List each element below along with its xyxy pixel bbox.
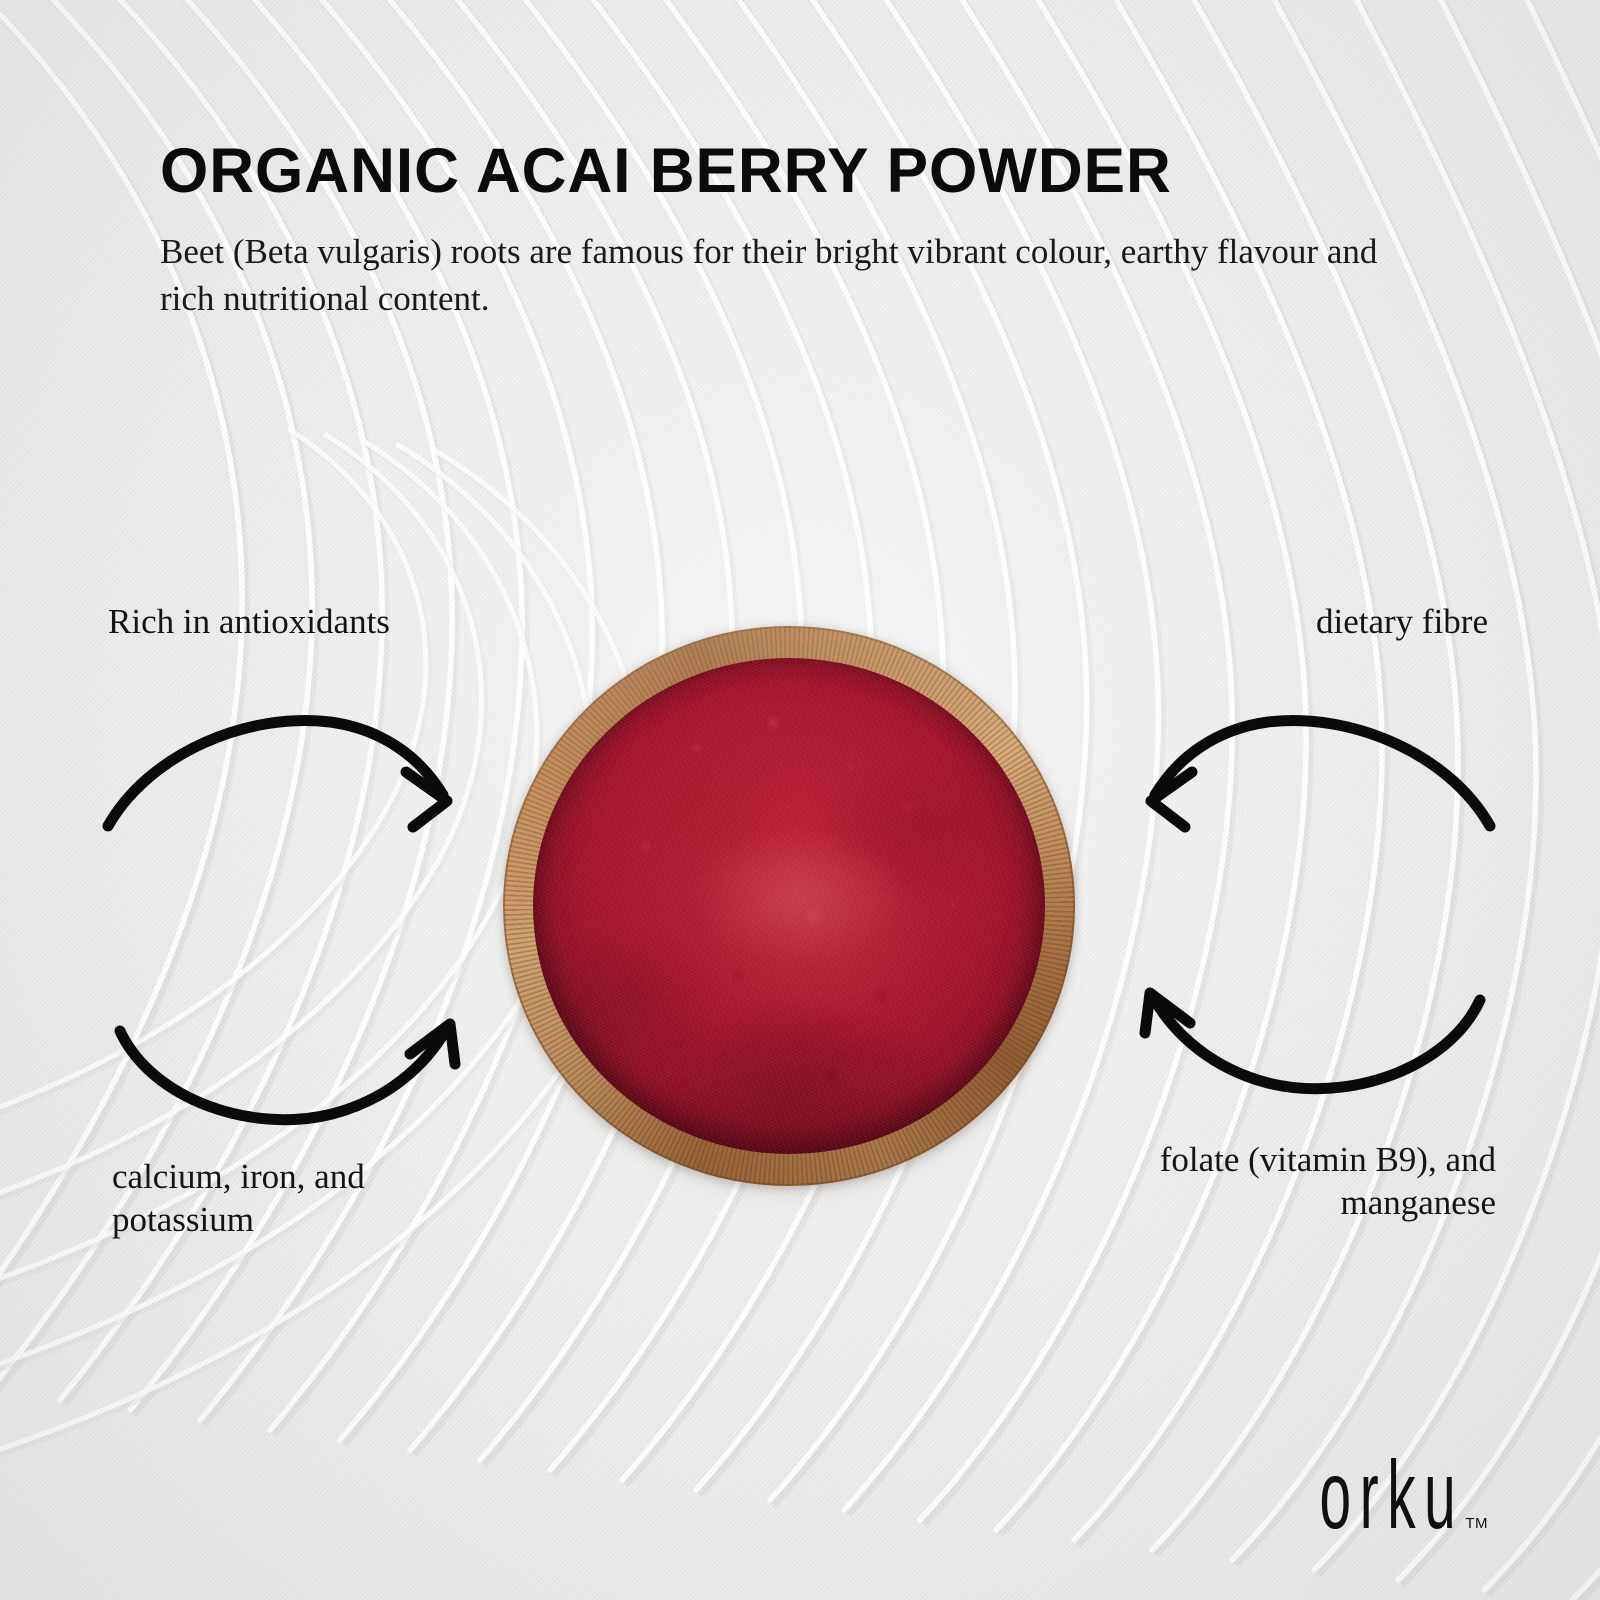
brand-name: orku <box>1320 1455 1465 1538</box>
callout-label-bottom-right: folate (vitamin B9), and manganese <box>1160 1138 1496 1225</box>
product-bowl-image <box>500 618 1080 1198</box>
callout-label-bottom-left: calcium, iron, and potassium <box>112 1155 365 1242</box>
acai-berry-powder <box>533 658 1045 1154</box>
header-block: ORGANIC ACAI BERRY POWDER Beet (Beta vul… <box>160 140 1450 322</box>
callout-label-top-left: Rich in antioxidants <box>108 600 390 643</box>
trademark-symbol: TM <box>1465 1515 1488 1532</box>
page-subtitle: Beet (Beta vulgaris) roots are famous fo… <box>160 229 1425 322</box>
brand-logo: orku TM <box>1245 1464 1488 1538</box>
page-title: ORGANIC ACAI BERRY POWDER <box>160 140 1431 203</box>
powder-highlight <box>533 658 1045 1154</box>
callout-label-top-right: dietary fibre <box>1316 600 1488 643</box>
infographic-poster: ORGANIC ACAI BERRY POWDER Beet (Beta vul… <box>0 0 1600 1600</box>
